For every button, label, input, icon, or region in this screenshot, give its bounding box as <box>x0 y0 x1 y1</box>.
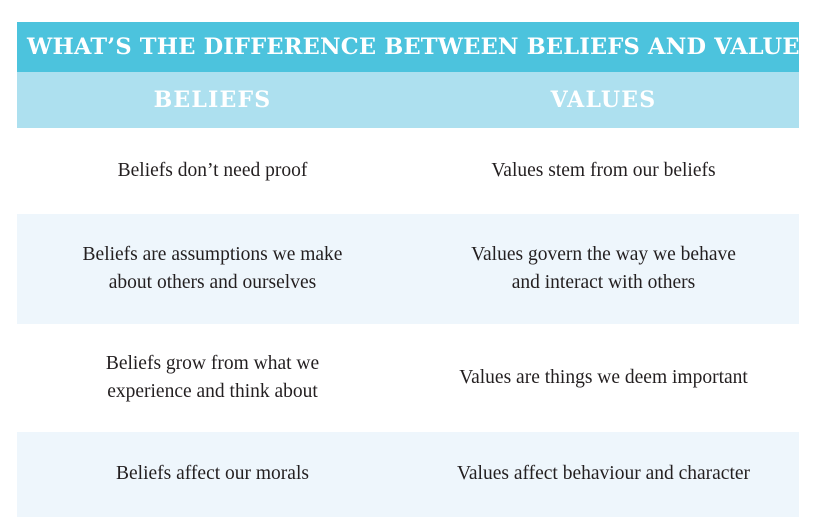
column-header-beliefs: BELIEFS <box>17 72 408 128</box>
column-header-values-label: VALUES <box>551 87 657 113</box>
beliefs-values-comparison-table: WHAT’S THE DIFFERENCE BETWEEN BELIEFS AN… <box>17 22 799 517</box>
cell-text-line: Values are things we deem important <box>442 364 765 392</box>
cell-text-line: about others and ourselves <box>51 269 374 297</box>
cell-text: Beliefs are assumptions we make about ot… <box>51 241 374 298</box>
cell-values: Values stem from our beliefs <box>408 128 799 214</box>
table-title-row: WHAT’S THE DIFFERENCE BETWEEN BELIEFS AN… <box>17 22 799 72</box>
cell-text-line: Beliefs don’t need proof <box>51 157 374 185</box>
table-row: Beliefs are assumptions we make about ot… <box>17 214 799 324</box>
cell-values: Values govern the way we behave and inte… <box>408 214 799 324</box>
cell-text-line: Values stem from our beliefs <box>442 157 765 185</box>
cell-beliefs: Beliefs grow from what we experience and… <box>17 324 408 432</box>
cell-beliefs: Beliefs affect our morals <box>17 432 408 517</box>
cell-values: Values are things we deem important <box>408 324 799 432</box>
cell-text-line: Beliefs affect our morals <box>51 460 374 488</box>
cell-beliefs: Beliefs don’t need proof <box>17 128 408 214</box>
table-row: Beliefs don’t need proof Values stem fro… <box>17 128 799 214</box>
column-header-beliefs-label: BELIEFS <box>154 87 272 113</box>
cell-values: Values affect behaviour and character <box>408 432 799 517</box>
cell-text: Values are things we deem important <box>442 364 765 392</box>
cell-text-line: experience and think about <box>51 378 374 406</box>
cell-text-line: Values govern the way we behave <box>442 241 765 269</box>
table-column-header-row: BELIEFS VALUES <box>17 72 799 128</box>
table-row: Beliefs grow from what we experience and… <box>17 324 799 432</box>
column-header-values: VALUES <box>408 72 799 128</box>
table-row: Beliefs affect our morals Values affect … <box>17 432 799 517</box>
cell-text: Values govern the way we behave and inte… <box>442 241 765 298</box>
cell-text-line: Beliefs are assumptions we make <box>51 241 374 269</box>
cell-text-line: and interact with others <box>442 269 765 297</box>
cell-text-line: Values affect behaviour and character <box>442 460 765 488</box>
page-title: WHAT’S THE DIFFERENCE BETWEEN BELIEFS AN… <box>27 34 815 60</box>
page-root: WHAT’S THE DIFFERENCE BETWEEN BELIEFS AN… <box>0 0 815 422</box>
cell-text: Beliefs affect our morals <box>51 460 374 488</box>
table-title-cell: WHAT’S THE DIFFERENCE BETWEEN BELIEFS AN… <box>17 22 799 72</box>
cell-text: Beliefs don’t need proof <box>51 157 374 185</box>
cell-text: Values stem from our beliefs <box>442 157 765 185</box>
cell-beliefs: Beliefs are assumptions we make about ot… <box>17 214 408 324</box>
cell-text: Beliefs grow from what we experience and… <box>51 350 374 407</box>
cell-text: Values affect behaviour and character <box>442 460 765 488</box>
cell-text-line: Beliefs grow from what we <box>51 350 374 378</box>
